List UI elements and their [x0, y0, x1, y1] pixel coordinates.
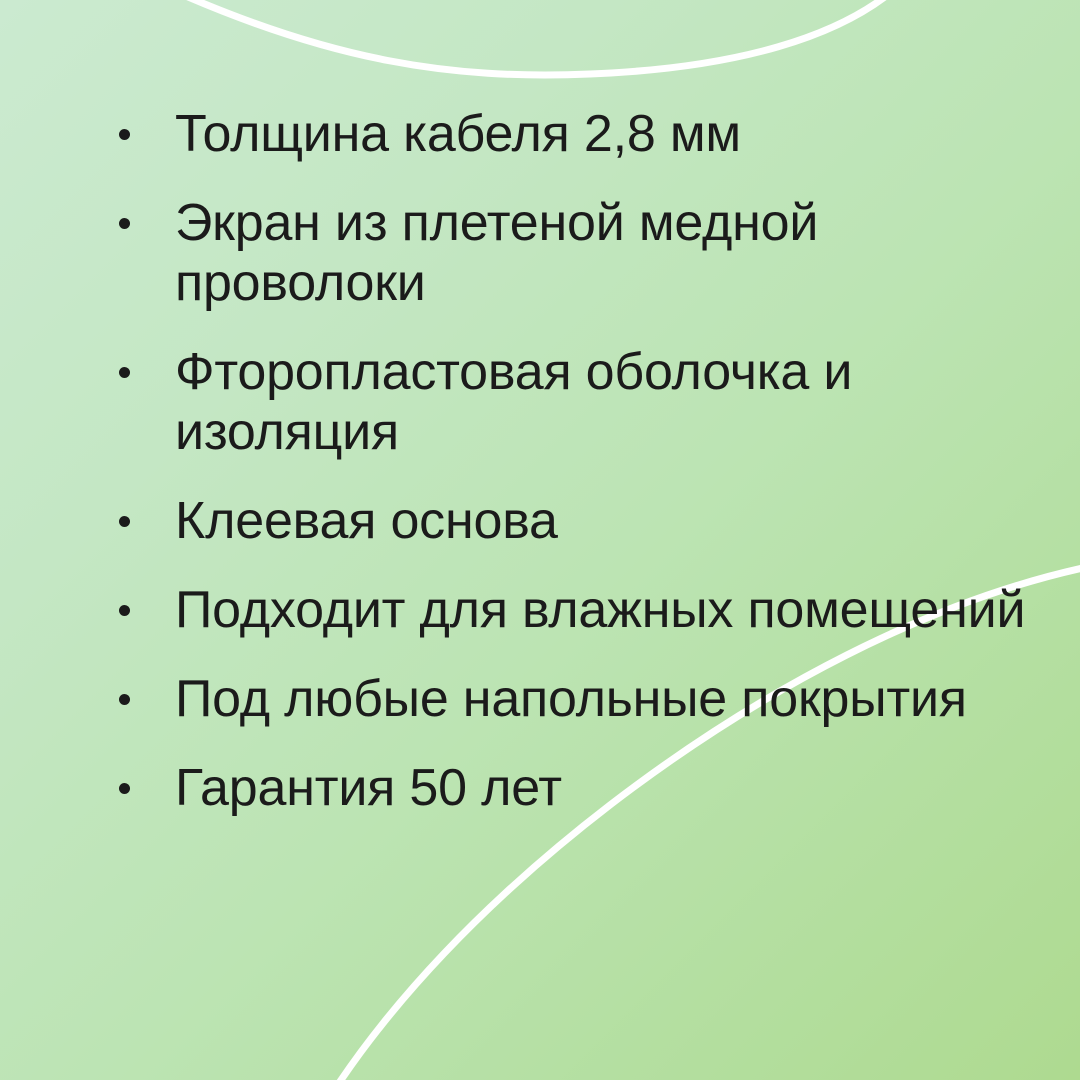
bullet-point-icon — [119, 694, 130, 705]
list-item: Фторопластовая оболочка и изоляция — [106, 342, 1040, 462]
list-item: Подходит для влажных помещений — [106, 580, 1040, 640]
promo-slide: Толщина кабеля 2,8 мм Экран из плетеной … — [0, 0, 1080, 1080]
bullet-point-icon — [119, 783, 130, 794]
bullet-point-icon — [119, 605, 130, 616]
list-item: Экран из плетеной медной проволоки — [106, 193, 1040, 313]
list-item-label: Под любые напольные покрытия — [175, 669, 1040, 729]
bullet-point-icon — [119, 367, 130, 378]
list-item-label: Толщина кабеля 2,8 мм — [175, 104, 1040, 164]
list-item-label: Экран из плетеной медной проволоки — [175, 193, 1040, 313]
list-item-label: Клеевая основа — [175, 491, 1040, 551]
bullet-point-icon — [119, 516, 130, 527]
bullet-point-icon — [119, 129, 130, 140]
list-item-label: Фторопластовая оболочка и изоляция — [175, 342, 1040, 462]
bullet-point-icon — [119, 218, 130, 229]
list-item: Гарантия 50 лет — [106, 758, 1040, 818]
list-item: Под любые напольные покрытия — [106, 669, 1040, 729]
list-item-label: Гарантия 50 лет — [175, 758, 1040, 818]
list-item-label: Подходит для влажных помещений — [175, 580, 1040, 640]
list-item: Клеевая основа — [106, 491, 1040, 551]
feature-list: Толщина кабеля 2,8 мм Экран из плетеной … — [0, 0, 1080, 818]
list-item: Толщина кабеля 2,8 мм — [106, 104, 1040, 164]
